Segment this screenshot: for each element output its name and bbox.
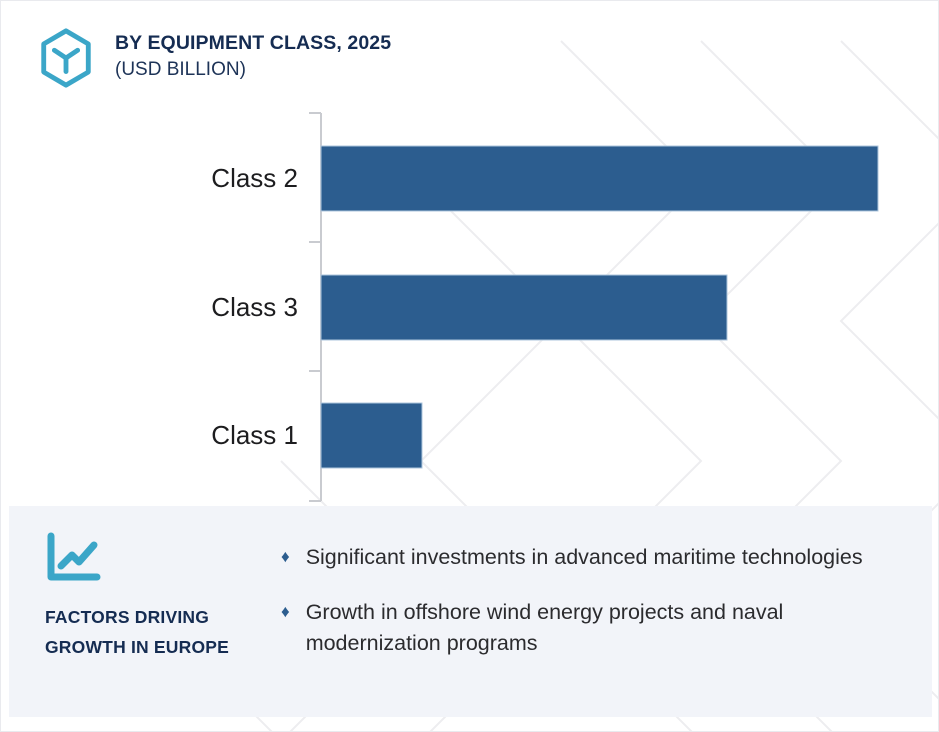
chart-header: BY EQUIPMENT CLASS, 2025 (USD BILLION) xyxy=(35,25,391,89)
bar-class-2 xyxy=(321,146,878,211)
category-label-2: Class 1 xyxy=(211,420,298,450)
category-label-0: Class 2 xyxy=(211,163,298,193)
diamond-bullet-icon: ♦ xyxy=(281,597,290,627)
hexagon-node-icon xyxy=(35,27,97,89)
list-item: ♦ Growth in offshore wind energy project… xyxy=(281,597,892,659)
category-axis xyxy=(309,113,321,501)
line-chart-growth-icon xyxy=(45,532,101,584)
list-item: ♦ Significant investments in advanced ma… xyxy=(281,542,892,573)
list-item-text: Significant investments in advanced mari… xyxy=(306,542,863,573)
bar-chart: Class 2 Class 3 Class 1 xyxy=(1,101,939,506)
infographic-card: BY EQUIPMENT CLASS, 2025 (USD BILLION) C… xyxy=(0,0,939,732)
factors-bullet-list: ♦ Significant investments in advanced ma… xyxy=(281,542,892,660)
factors-panel-left: FACTORS DRIVING GROWTH IN EUROPE xyxy=(9,506,281,662)
diamond-bullet-icon: ♦ xyxy=(281,542,290,572)
page-title: BY EQUIPMENT CLASS, 2025 xyxy=(115,31,391,57)
bar-class-1 xyxy=(321,403,422,468)
bar-class-3 xyxy=(321,275,727,340)
factors-panel-right: ♦ Significant investments in advanced ma… xyxy=(281,506,932,660)
category-label-1: Class 3 xyxy=(211,292,298,322)
factors-panel: FACTORS DRIVING GROWTH IN EUROPE ♦ Signi… xyxy=(9,506,932,717)
chart-subtitle: (USD BILLION) xyxy=(115,57,391,83)
header-text-block: BY EQUIPMENT CLASS, 2025 (USD BILLION) xyxy=(115,25,391,82)
list-item-text: Growth in offshore wind energy projects … xyxy=(306,597,892,659)
factors-heading: FACTORS DRIVING GROWTH IN EUROPE xyxy=(45,602,255,662)
